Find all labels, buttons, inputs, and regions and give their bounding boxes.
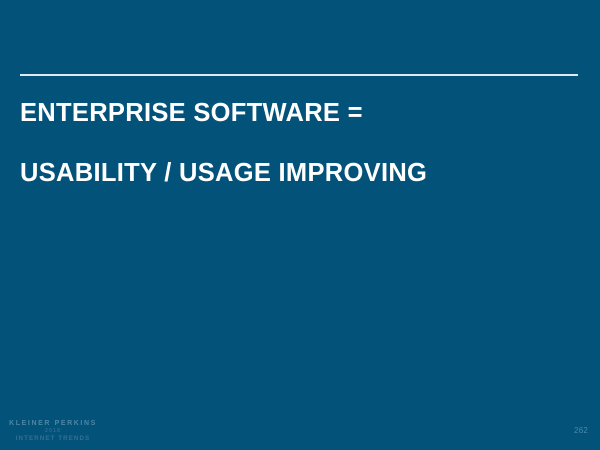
slide-canvas: ENTERPRISE SOFTWARE = USABILITY / USAGE … [0, 0, 600, 450]
slide-headline: ENTERPRISE SOFTWARE = USABILITY / USAGE … [20, 99, 580, 188]
headline-line-1: ENTERPRISE SOFTWARE = [20, 99, 580, 128]
logo-report-name: INTERNET TRENDS [8, 435, 98, 443]
kleiner-perkins-logo: KLEINER PERKINS 2018 INTERNET TRENDS [8, 420, 98, 443]
header-divider-rule [20, 74, 578, 76]
logo-year: 2018 [8, 428, 98, 435]
headline-line-2: USABILITY / USAGE IMPROVING [20, 159, 580, 188]
page-number: 262 [574, 426, 588, 435]
logo-brand-name: KLEINER PERKINS [8, 420, 98, 428]
